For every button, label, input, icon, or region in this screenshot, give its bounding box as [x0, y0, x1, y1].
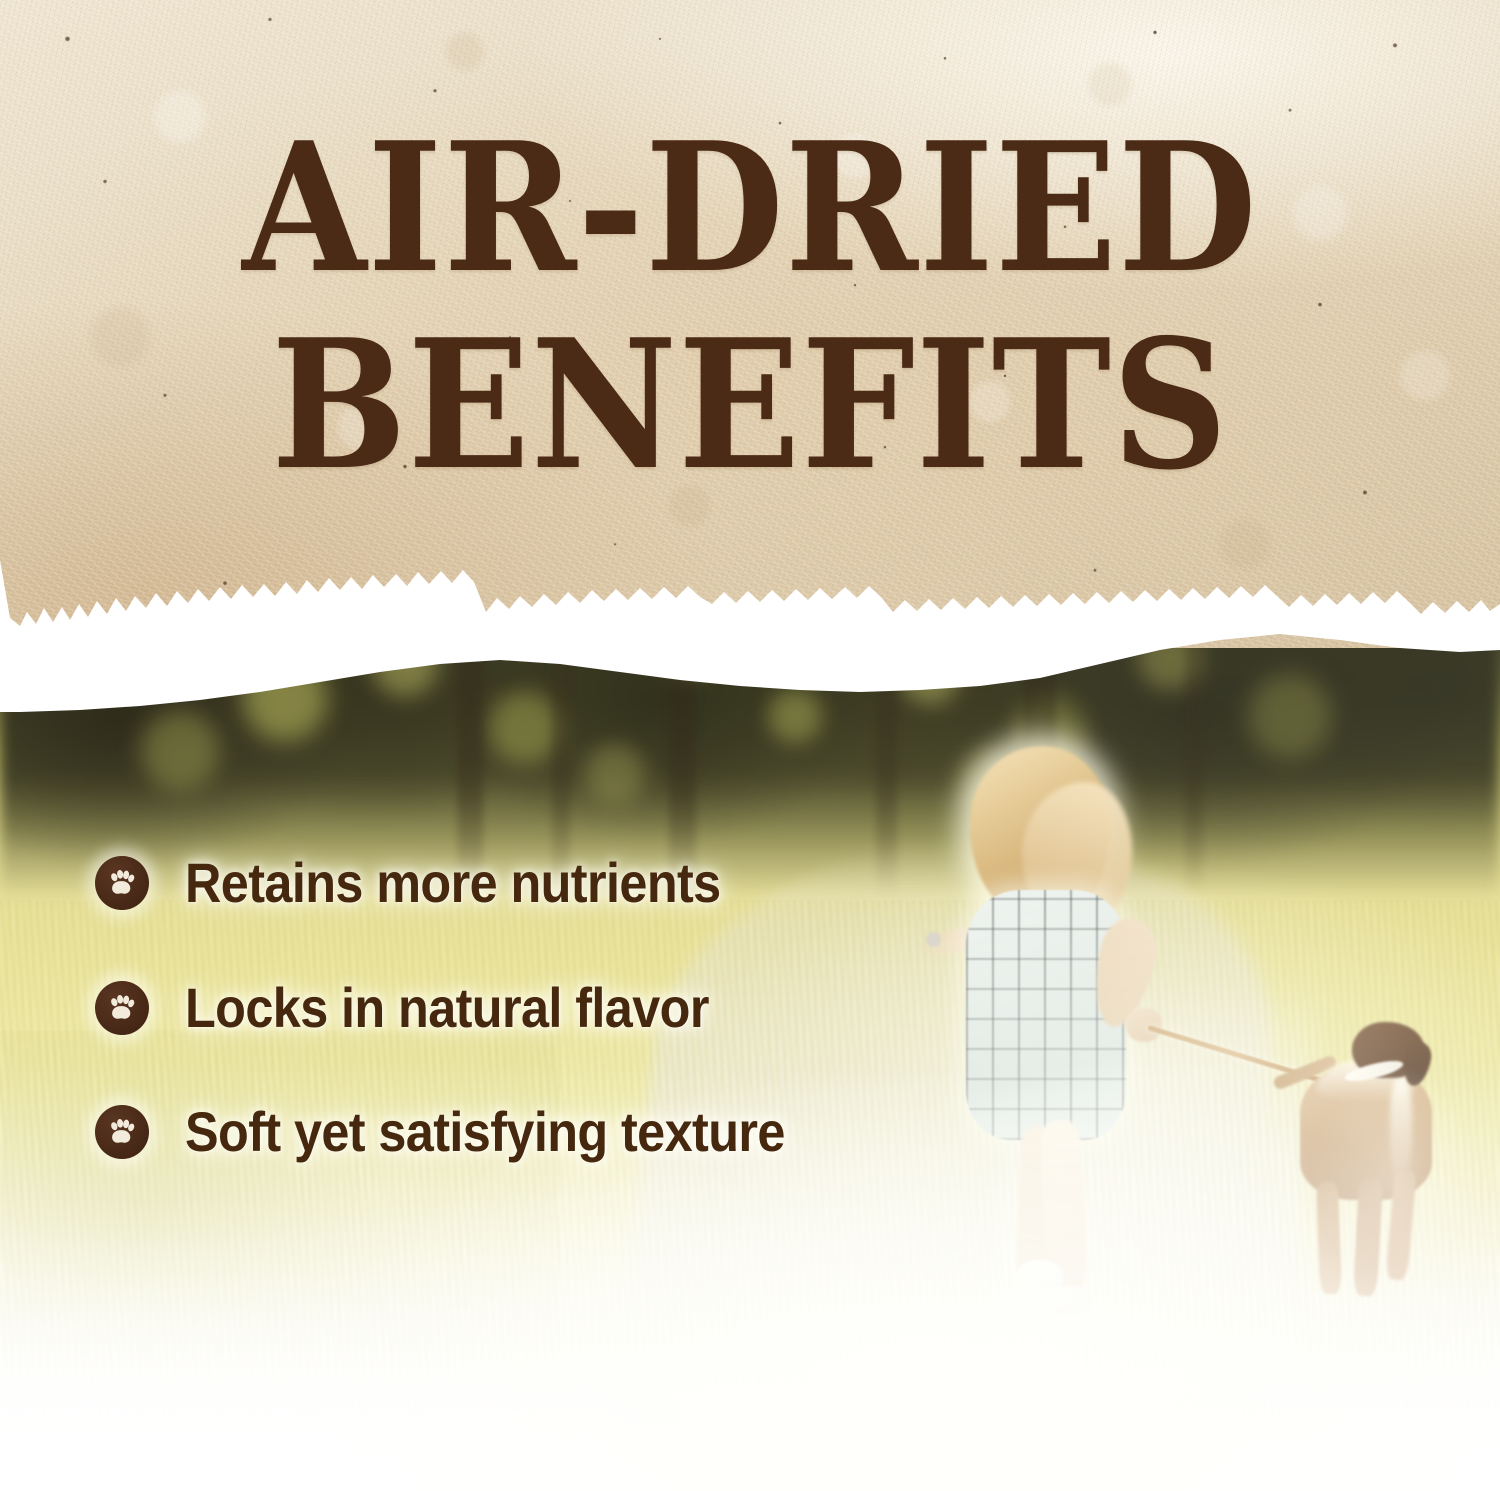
dog-fur-stripe: [1390, 1076, 1412, 1180]
dog-hind-leg-right: [1353, 1177, 1383, 1296]
benefit-label-1: Retains more nutrients: [185, 855, 721, 911]
woman-right-shoe: [1040, 1286, 1092, 1316]
headline-line-2: BENEFITS: [75, 291, 1425, 488]
foreground-grass-clump: [0, 1030, 560, 1460]
paw-print-icon: [95, 1105, 149, 1159]
dog-hind-leg-left: [1316, 1182, 1342, 1295]
kraft-paper-panel: AIR-DRIED BENEFITS: [0, 0, 1500, 648]
benefit-item-3: Soft yet satisfying texture: [95, 1104, 851, 1160]
lifestyle-photo: [0, 600, 1500, 1491]
woman-walking-figure: [930, 740, 1260, 1340]
headline-line-1: AIR-DRIED: [75, 0, 1425, 291]
benefit-item-2: Locks in natural flavor: [95, 980, 767, 1036]
woman-wristwatch: [926, 932, 941, 947]
benefit-label-2: Locks in natural flavor: [185, 980, 709, 1036]
air-dried-benefits-poster: AIR-DRIED BENEFITS: [0, 0, 1500, 1491]
dog-figure: [1278, 1020, 1468, 1330]
headline-block: AIR-DRIED BENEFITS: [0, 0, 1500, 489]
benefit-item-1: Retains more nutrients: [95, 855, 780, 911]
paw-print-icon: [95, 856, 149, 910]
photo-inner: [0, 600, 1500, 1491]
woman-hand-holding-leash: [1126, 1008, 1162, 1042]
benefit-label-3: Soft yet satisfying texture: [185, 1104, 785, 1160]
paw-print-icon: [95, 981, 149, 1035]
